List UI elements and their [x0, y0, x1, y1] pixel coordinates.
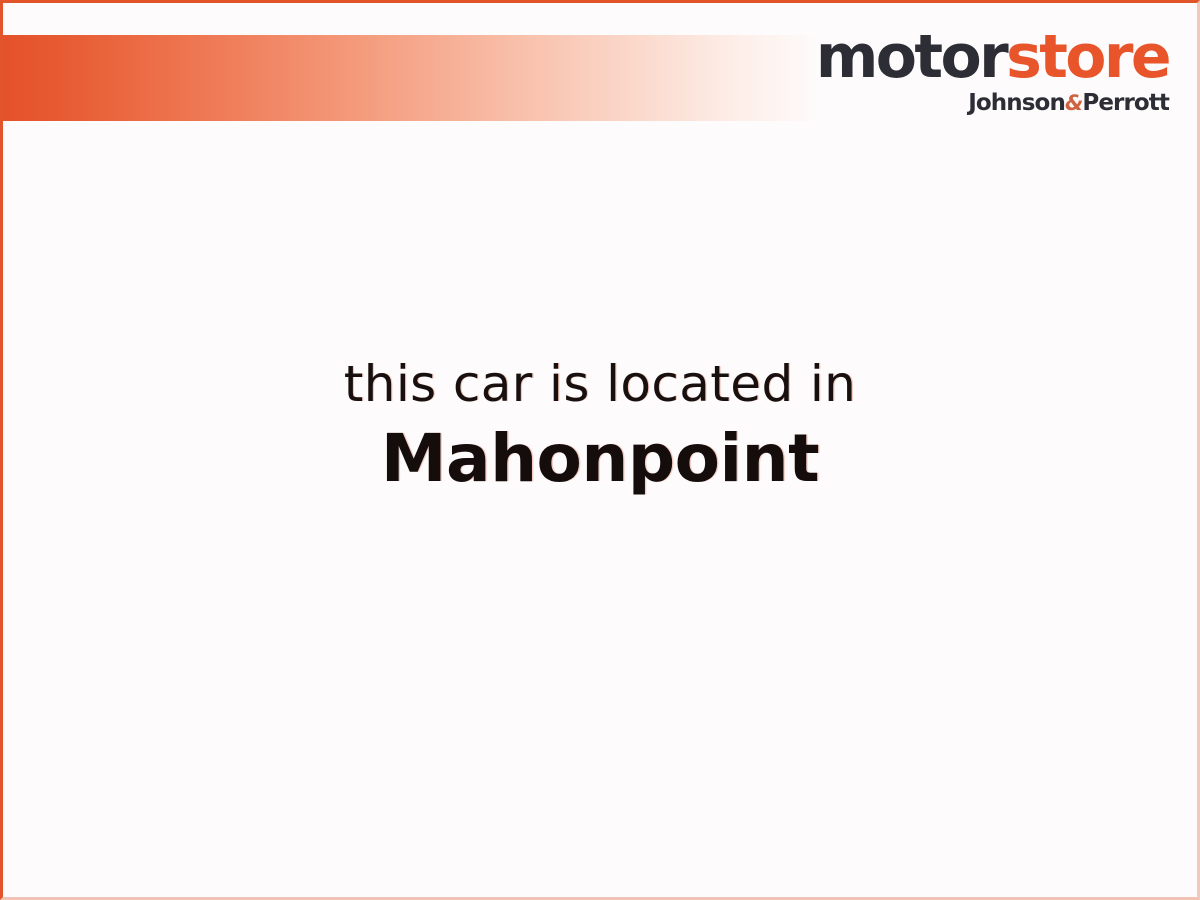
header-gradient-band [0, 35, 818, 121]
logo-subbrand: Johnson&Perrott [816, 92, 1169, 115]
location-message-place: Mahonpoint [3, 423, 1197, 496]
logo-subbrand-perrott: Perrott [1082, 90, 1169, 116]
location-message-intro: this car is located in [3, 358, 1197, 411]
logo-subbrand-ampersand: & [1065, 91, 1082, 115]
logo-word-store: store [1006, 22, 1169, 92]
logo-wordmark: motorstore [816, 27, 1169, 87]
slide-canvas: motorstore Johnson&Perrott this car is l… [0, 0, 1200, 900]
logo-word-motor: motor [816, 22, 1006, 92]
logo-subbrand-johnson: Johnson [968, 90, 1065, 116]
brand-logo: motorstore Johnson&Perrott [816, 27, 1169, 115]
location-message: this car is located in Mahonpoint [3, 358, 1197, 495]
